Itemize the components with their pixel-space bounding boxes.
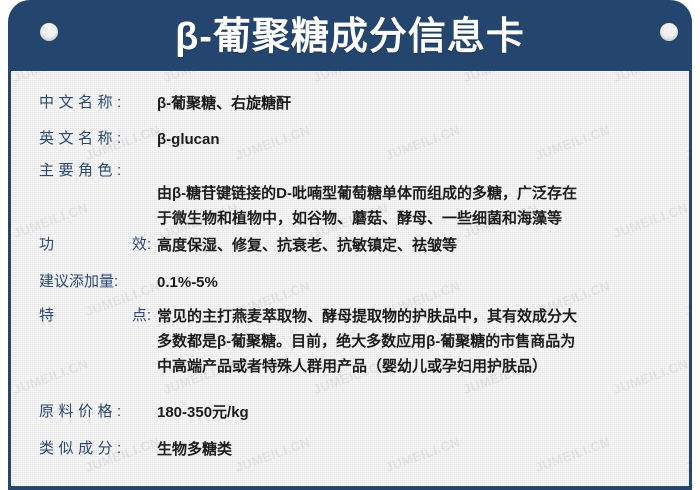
value-dosage: 0.1%-5% [151, 270, 673, 295]
value-similar-ingredients: 生物多糖类 [151, 437, 673, 462]
value-main-role: 由β-糖苷键链接的D-吡喃型葡萄糖单体而组成的多糖，广泛存在 于微生物和植物中，… [151, 159, 673, 231]
row-features: 特 点: 常见的主打燕麦萃取物、酵母提取物的护肤品中，其有效成分大 多数都是β-… [39, 304, 673, 379]
value-raw-price: 180-350元/kg [151, 400, 673, 425]
card-body: JUMEILI.CNJUMEILI.CNJUMEILI.CNJUMEILI.CN… [8, 71, 692, 490]
label-features-char-1: 特 [39, 304, 54, 328]
row-chinese-name: 中文名称: β-葡聚糖、右旋糖酐 [39, 91, 673, 116]
ingredient-info-card: β-葡聚糖成分信息卡 JUMEILI.CNJUMEILI.CNJUMEILI.C… [0, 0, 700, 490]
value-chinese-name: β-葡聚糖、右旋糖酐 [151, 91, 673, 116]
info-rows: 中文名称: β-葡聚糖、右旋糖酐 英文名称: β-glucan 主要角色: [11, 71, 689, 486]
row-english-name: 英文名称: β-glucan [39, 127, 673, 152]
card-header: β-葡聚糖成分信息卡 [8, 0, 692, 74]
value-features: 常见的主打燕麦萃取物、酵母提取物的护肤品中，其有效成分大 多数都是β-葡聚糖。目… [151, 304, 673, 379]
row-effect: 功 效: 高度保湿、修复、抗衰老、抗敏镇定、祛皱等 [39, 233, 673, 258]
label-raw-price: 原料价格: [39, 400, 151, 424]
row-raw-price: 原料价格: 180-350元/kg [39, 400, 673, 425]
row-similar-ingredients: 类似成分: 生物多糖类 [39, 437, 673, 462]
card-title: β-葡聚糖成分信息卡 [8, 10, 692, 64]
value-english-name: β-glucan [151, 127, 673, 152]
label-features: 特 点: [39, 304, 151, 328]
label-effect-char-1: 功 [39, 233, 54, 257]
label-main-role: 主要角色: [39, 159, 151, 183]
label-similar-ingredients: 类似成分: [39, 437, 151, 461]
label-features-char-2: 点: [132, 304, 151, 328]
label-effect-char-2: 效: [132, 233, 151, 257]
row-main-role: 主要角色: 由β-糖苷键链接的D-吡喃型葡萄糖单体而组成的多糖，广泛存在 于微生… [39, 159, 673, 231]
value-effect: 高度保湿、修复、抗衰老、抗敏镇定、祛皱等 [151, 233, 673, 258]
label-chinese-name: 中文名称: [39, 91, 151, 115]
label-english-name: 英文名称: [39, 127, 151, 151]
row-dosage: 建议添加量: 0.1%-5% [39, 270, 673, 295]
label-dosage: 建议添加量: [39, 270, 151, 294]
label-effect: 功 效: [39, 233, 151, 257]
